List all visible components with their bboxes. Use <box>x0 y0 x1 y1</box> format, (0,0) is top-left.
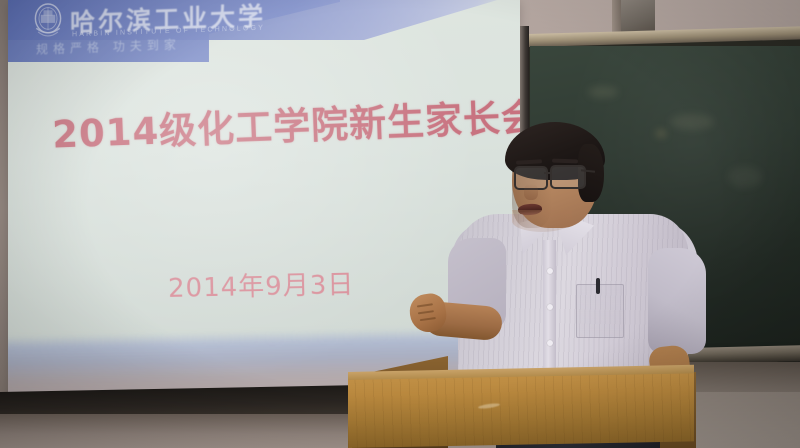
finger-crease <box>418 310 434 314</box>
finger-crease <box>417 303 433 307</box>
pen-icon <box>596 278 600 294</box>
shirt-button <box>547 304 553 310</box>
chalk-smudge <box>588 86 618 98</box>
finger-crease <box>420 317 436 321</box>
shirt-pocket <box>576 284 624 338</box>
podium-wood-grain <box>348 373 694 448</box>
shirt-button <box>547 340 553 346</box>
chalk-smudge <box>728 166 762 188</box>
eyebrow-right <box>552 159 578 164</box>
chin-shading <box>512 210 572 232</box>
shirt-sleeve-right <box>648 248 706 354</box>
door-glass-pane <box>621 0 655 34</box>
slide-date: 2014年9月3日 <box>168 264 355 305</box>
nose <box>524 184 538 200</box>
hit-university-crest-icon <box>30 3 66 41</box>
screenshot-scene: 哈尔滨工业大学 HARBIN INSTITUTE OF TECHNOLOGY 规… <box>0 0 800 448</box>
glasses-bridge <box>544 172 552 174</box>
shirt-button <box>547 268 553 274</box>
